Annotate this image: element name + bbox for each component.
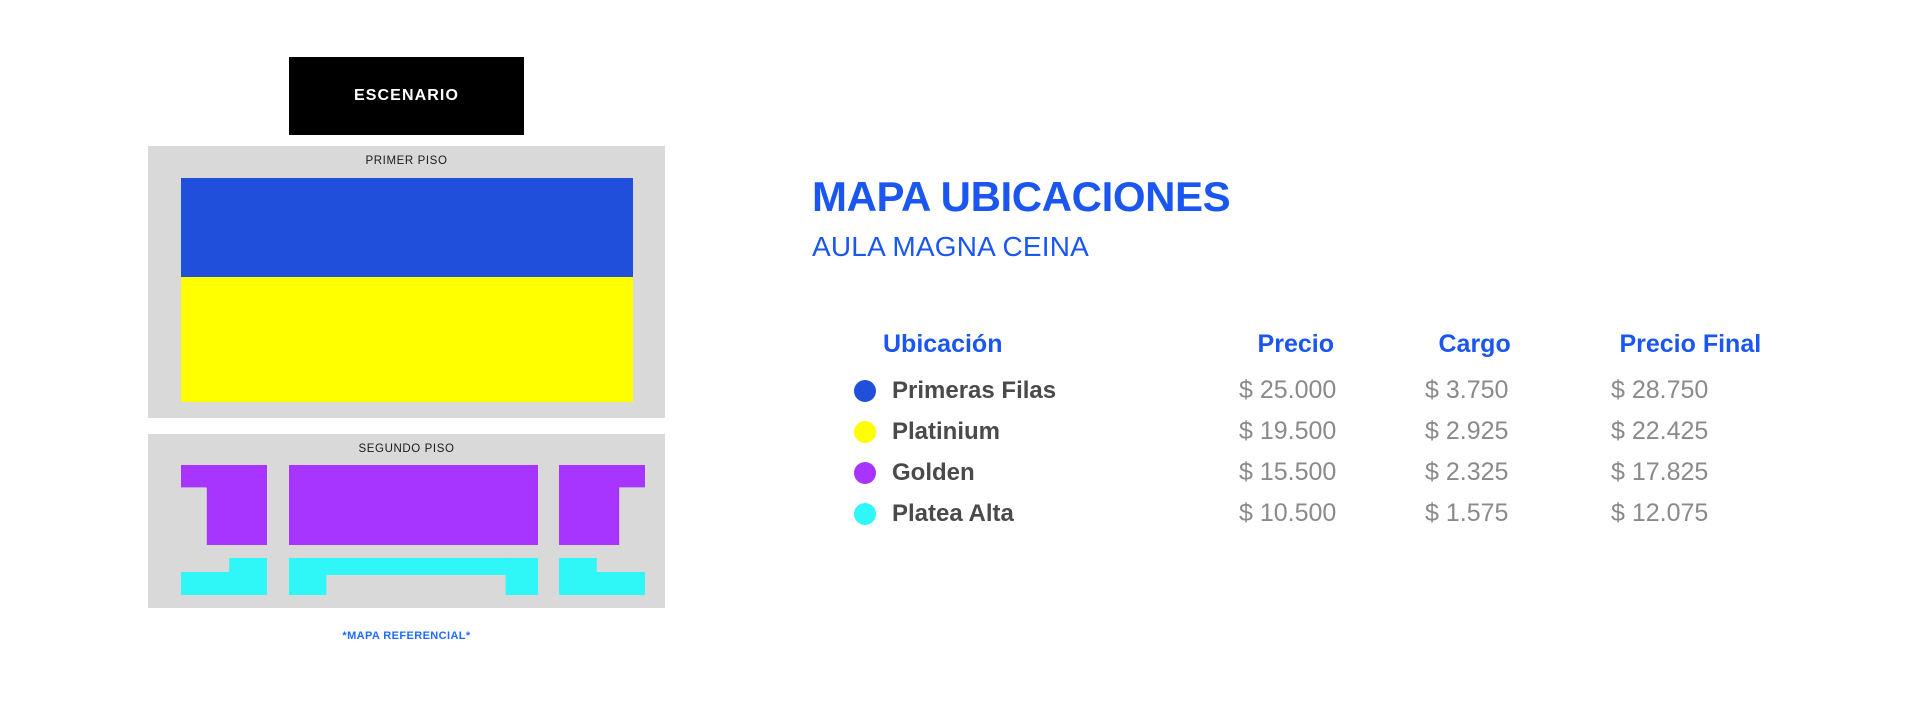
zone-name-label: Platinium <box>892 418 1000 446</box>
row-fee-cell: $ 1.575 <box>1425 499 1611 528</box>
info-panel: MAPA UBICACIONES AULA MAGNA CEINA Ubicac… <box>812 0 1912 720</box>
row-fee-cell: $ 2.325 <box>1425 458 1611 487</box>
row-price-cell: $ 25.000 <box>1239 376 1425 405</box>
row-zone-cell: Primeras Filas <box>854 377 1239 405</box>
column-header-price: Precio <box>1258 330 1439 359</box>
column-header-zone: Ubicación <box>854 330 1258 359</box>
first-floor-label: PRIMER PISO <box>148 155 665 167</box>
map-zone-platea-alta-center[interactable] <box>289 558 538 595</box>
zone-color-dot <box>854 421 876 443</box>
table-header-row: Ubicación Precio Cargo Precio Final <box>854 318 1814 370</box>
zone-name-label: Primeras Filas <box>892 377 1056 405</box>
second-floor-panel: SEGUNDO PISO <box>148 434 665 608</box>
column-header-total: Precio Final <box>1619 330 1814 359</box>
map-zone-platea-alta-right[interactable] <box>559 558 645 595</box>
page-subtitle: AULA MAGNA CEINA <box>812 233 1089 261</box>
table-row[interactable]: Platinium $ 19.500 $ 2.925 $ 22.425 <box>854 411 1814 452</box>
column-header-fee: Cargo <box>1439 330 1620 359</box>
table-row[interactable]: Primeras Filas $ 25.000 $ 3.750 $ 28.750 <box>854 370 1814 411</box>
row-price-cell: $ 19.500 <box>1239 417 1425 446</box>
table-row[interactable]: Golden $ 15.500 $ 2.325 $ 17.825 <box>854 452 1814 493</box>
second-floor-label: SEGUNDO PISO <box>148 443 665 455</box>
zone-color-dot <box>854 503 876 525</box>
venue-seating-map: ESCENARIO PRIMER PISO SEGUNDO PISO *MAPA… <box>0 0 680 720</box>
row-zone-cell: Golden <box>854 459 1239 487</box>
row-total-cell: $ 12.075 <box>1611 499 1811 528</box>
zone-color-dot <box>854 380 876 402</box>
row-total-cell: $ 28.750 <box>1611 376 1811 405</box>
price-table: Ubicación Precio Cargo Precio Final Prim… <box>854 318 1814 534</box>
row-total-cell: $ 22.425 <box>1611 417 1811 446</box>
page-title: MAPA UBICACIONES <box>812 176 1230 218</box>
map-footnote: *MAPA REFERENCIAL* <box>148 630 665 642</box>
map-zone-golden-right[interactable] <box>559 465 645 545</box>
map-zone-primeras-filas[interactable] <box>181 178 633 277</box>
map-zone-platea-alta-left[interactable] <box>181 558 267 595</box>
row-fee-cell: $ 3.750 <box>1425 376 1611 405</box>
stage-block: ESCENARIO <box>289 57 524 135</box>
row-zone-cell: Platea Alta <box>854 500 1239 528</box>
zone-name-label: Golden <box>892 459 975 487</box>
zone-name-label: Platea Alta <box>892 500 1014 528</box>
zone-color-dot <box>854 462 876 484</box>
stage-label: ESCENARIO <box>354 87 459 105</box>
row-zone-cell: Platinium <box>854 418 1239 446</box>
map-zone-golden-center[interactable] <box>289 465 538 545</box>
table-row[interactable]: Platea Alta $ 10.500 $ 1.575 $ 12.075 <box>854 493 1814 534</box>
map-zone-platinium[interactable] <box>181 277 633 402</box>
row-price-cell: $ 10.500 <box>1239 499 1425 528</box>
first-floor-panel: PRIMER PISO <box>148 146 665 418</box>
row-fee-cell: $ 2.925 <box>1425 417 1611 446</box>
row-price-cell: $ 15.500 <box>1239 458 1425 487</box>
row-total-cell: $ 17.825 <box>1611 458 1811 487</box>
map-zone-golden-left[interactable] <box>181 465 267 545</box>
